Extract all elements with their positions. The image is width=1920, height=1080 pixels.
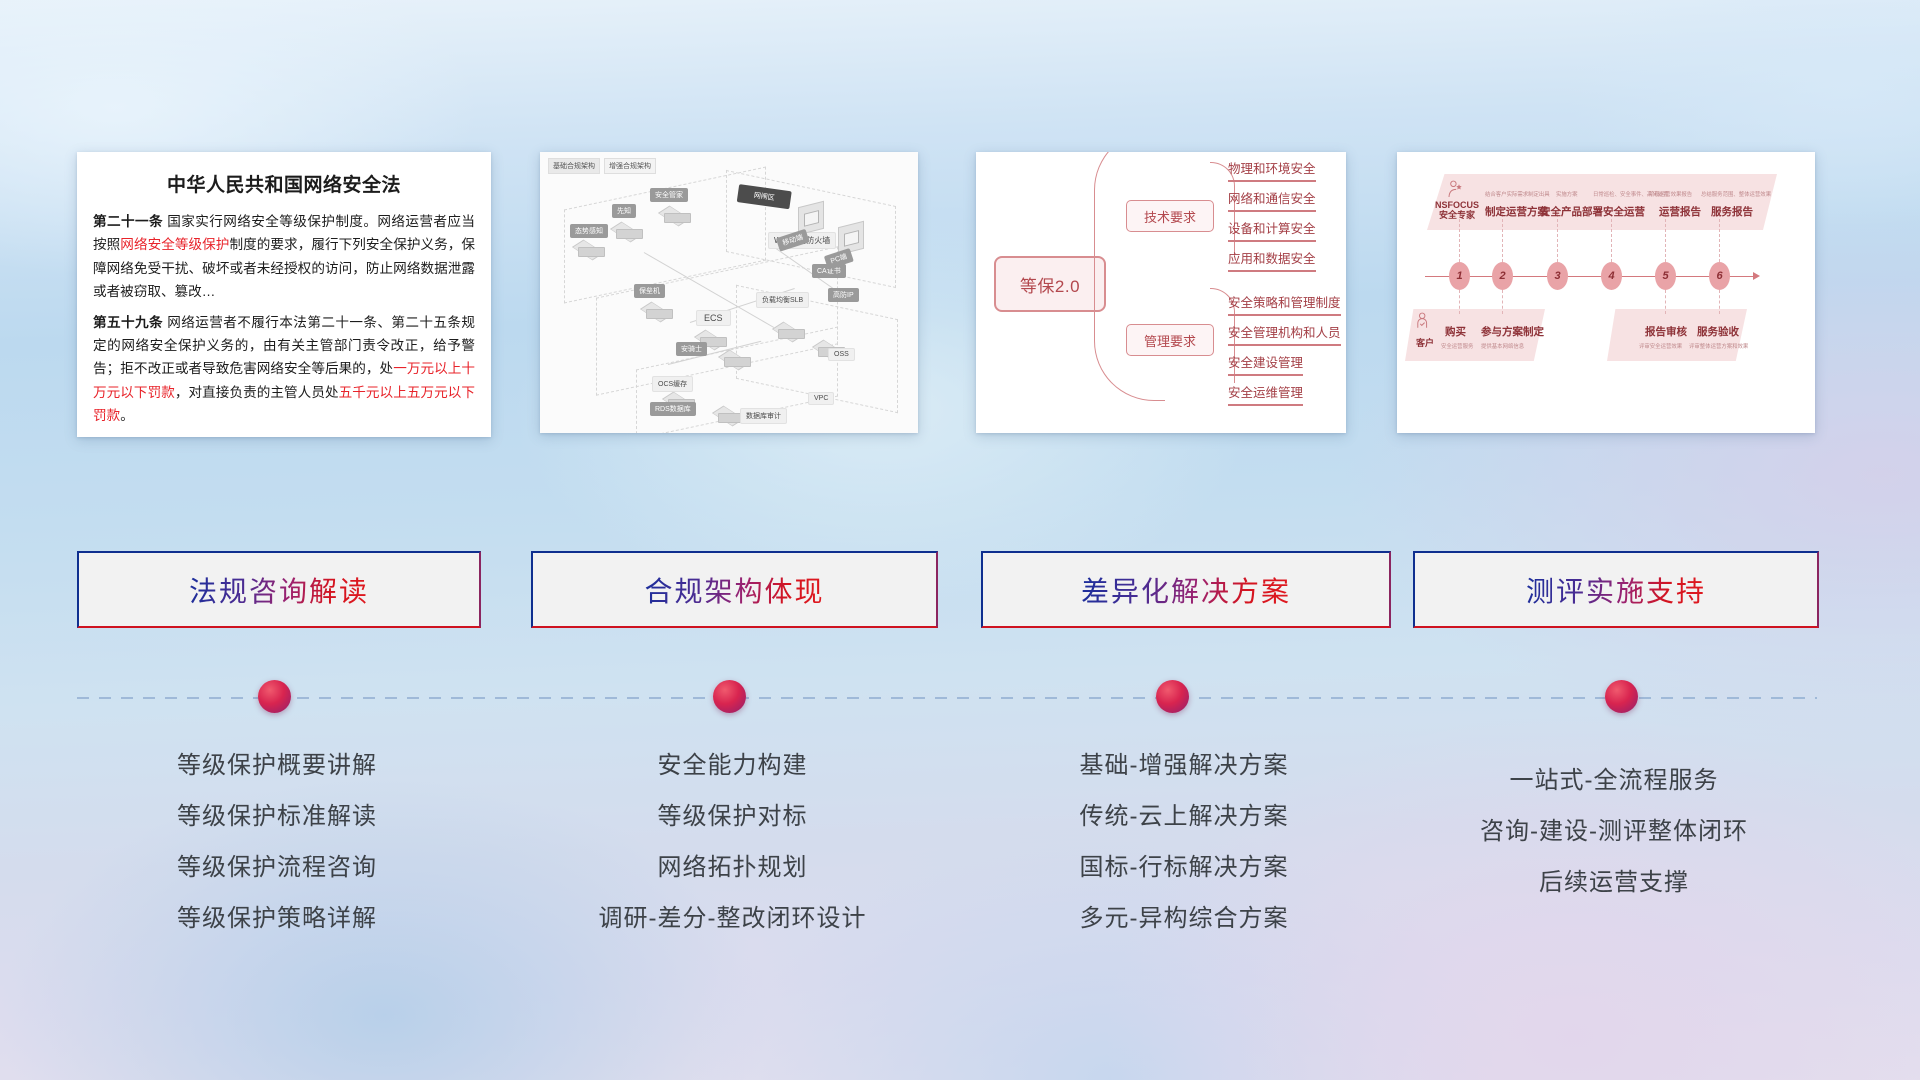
bullet-item: 等级保护策略详解 [77,893,477,944]
rail-dot-2[interactable] [713,680,746,713]
headline-box-regulation[interactable]: 法规咨询解读 [77,551,481,628]
rail-dot-3[interactable] [1156,680,1189,713]
headline-box-assessment[interactable]: 测评实施支持 [1413,551,1819,628]
bullet-column-regulation: 等级保护概要讲解 等级保护标准解读 等级保护流程咨询 等级保护策略详解 [77,740,477,944]
bullet-item: 传统-云上解决方案 [981,791,1387,842]
headline-label: 法规咨询解读 [189,570,369,610]
bullet-item: 等级保护对标 [531,791,934,842]
bullet-item: 多元-异构综合方案 [981,893,1387,944]
bullet-item: 一站式-全流程服务 [1413,755,1815,806]
bullet-item: 等级保护标准解读 [77,791,477,842]
headline-label: 测评实施支持 [1526,570,1706,610]
bullet-item: 安全能力构建 [531,740,934,791]
rail-dot-4[interactable] [1605,680,1638,713]
bullet-column-architecture: 安全能力构建 等级保护对标 网络拓扑规划 调研-差分-整改闭环设计 [531,740,934,944]
bullet-item: 调研-差分-整改闭环设计 [531,893,934,944]
headline-label: 合规架构体现 [644,570,824,610]
rail-dot-1[interactable] [258,680,291,713]
headline-label: 差异化解决方案 [1081,570,1291,610]
bullet-item: 咨询-建设-测评整体闭环 [1413,806,1815,857]
bullet-item: 国标-行标解决方案 [981,842,1387,893]
headline-box-solution[interactable]: 差异化解决方案 [981,551,1391,628]
bullet-item: 基础-增强解决方案 [981,740,1387,791]
headline-box-architecture[interactable]: 合规架构体现 [531,551,938,628]
timeline-rail [77,697,1817,699]
bullet-item: 等级保护概要讲解 [77,740,477,791]
bullet-item: 等级保护流程咨询 [77,842,477,893]
bullet-item: 网络拓扑规划 [531,842,934,893]
bullet-column-solution: 基础-增强解决方案 传统-云上解决方案 国标-行标解决方案 多元-异构综合方案 [981,740,1387,944]
bullet-item: 后续运营支撑 [1413,857,1815,908]
slide-root: 中华人民共和国网络安全法 第二十一条 国家实行网络安全等级保护制度。网络运营者应… [0,0,1920,1080]
bullet-column-assessment: 一站式-全流程服务 咨询-建设-测评整体闭环 后续运营支撑 [1413,755,1815,908]
